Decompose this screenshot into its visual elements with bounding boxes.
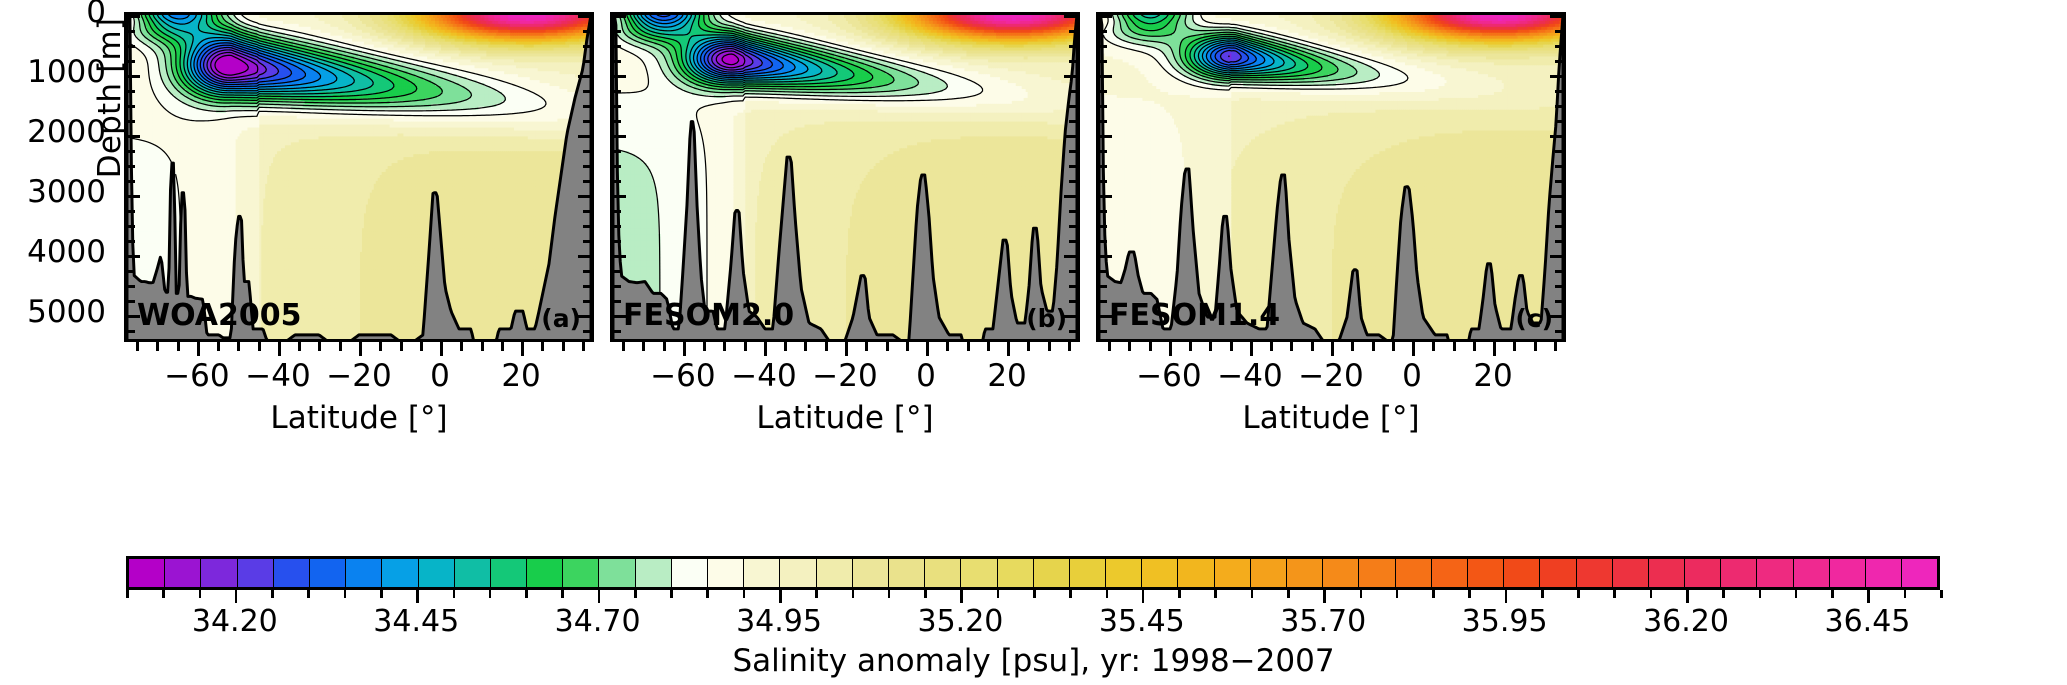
y-axis-tick (613, 285, 621, 288)
x-axis-tick (481, 342, 484, 351)
panel-field-b (613, 15, 1077, 339)
x-axis-tick (642, 342, 645, 351)
x-axis-tick (1027, 342, 1030, 351)
panel-field-c (1099, 15, 1563, 339)
x-axis-tick (1189, 342, 1192, 351)
colorbar-tick (271, 590, 274, 598)
x-axis-tick (825, 342, 828, 351)
y-axis-tick (1555, 180, 1563, 183)
y-axis-tick (583, 120, 591, 123)
x-axis-tick (1493, 342, 1496, 356)
y-axis-tick (1550, 255, 1563, 258)
x-tick-label: −40 (1217, 358, 1282, 394)
colorbar-segment (238, 559, 274, 587)
y-axis-tick (127, 15, 140, 18)
y-axis-tick (1099, 180, 1107, 183)
colorbar-segment (455, 559, 491, 587)
colorbar-segment (708, 559, 744, 587)
colorbar-segment (1323, 559, 1359, 587)
colorbar-label: Salinity anomaly [psu], yr: 1998−2007 (0, 643, 2067, 679)
colorbar-tick-label: 34.20 (192, 604, 278, 639)
colorbar-segment (744, 559, 780, 587)
x-axis-tick (723, 342, 726, 351)
y-axis-tick (1555, 150, 1563, 153)
colorbar-tick-labels: 34.2034.4534.7034.9535.2035.4535.7035.95… (126, 604, 1940, 642)
y-axis-tick (1550, 15, 1563, 18)
colorbar-tick (1904, 590, 1907, 598)
y-tick-label: 0 (86, 0, 106, 30)
x-axis-tick (906, 342, 909, 351)
colorbar-segment (1830, 559, 1866, 587)
colorbar-tick (1613, 590, 1616, 598)
salinity-field-a (127, 15, 591, 341)
panel-woa2005[interactable]: WOA2005 (a) (124, 12, 594, 342)
y-axis-tick (613, 135, 626, 138)
y-axis-tick (1064, 255, 1077, 258)
y-axis-tick (613, 165, 621, 168)
x-tick-label: 0 (1402, 358, 1422, 394)
colorbar-segment (1468, 559, 1504, 587)
colorbar-segment (310, 559, 346, 587)
colorbar-segment (672, 559, 708, 587)
colorbar-tick (1323, 590, 1326, 603)
y-axis-tick (1555, 60, 1563, 63)
y-axis-tick (1069, 285, 1077, 288)
colorbar-segment (599, 559, 635, 587)
y-axis-tick (1099, 75, 1112, 78)
colorbar-tick (1360, 590, 1363, 598)
colorbar-tick (888, 590, 891, 598)
x-tick-label: −20 (326, 358, 391, 394)
y-axis-tick (127, 195, 140, 198)
y-axis-tick (583, 30, 591, 33)
x-axis-tick (1048, 342, 1051, 351)
x-axis-tick (987, 342, 990, 351)
panel-field-a (127, 15, 591, 339)
x-axis-tick (136, 342, 139, 351)
y-axis-tick (613, 150, 621, 153)
y-axis-tick (613, 75, 626, 78)
y-axis-tick (1555, 330, 1563, 333)
colorbar-segment (1359, 559, 1395, 587)
colorbar-ticks (126, 590, 1940, 604)
colorbar-tick (199, 590, 202, 598)
y-axis-tick (127, 75, 140, 78)
y-axis-tick (1555, 45, 1563, 48)
y-axis-tick (1555, 270, 1563, 273)
x-axis-tick (845, 342, 848, 356)
y-axis-tick (583, 60, 591, 63)
y-tick-label: 3000 (27, 174, 106, 210)
y-axis-tick (583, 105, 591, 108)
colorbar-segment (1396, 559, 1432, 587)
y-axis-tick (613, 255, 626, 258)
y-axis-tick (127, 270, 135, 273)
panel-tag-c: (c) (1515, 304, 1553, 333)
y-axis-tick (613, 225, 621, 228)
colorbar-tick (598, 590, 601, 603)
y-axis-tick (583, 330, 591, 333)
y-axis-tick (1069, 210, 1077, 213)
colorbar-segment (1251, 559, 1287, 587)
x-axis-tick (339, 342, 342, 351)
y-axis-tick (613, 210, 621, 213)
y-axis-tick (1550, 135, 1563, 138)
x-axis-tick (440, 342, 443, 356)
y-axis-tick (127, 150, 135, 153)
y-axis-tick (127, 90, 135, 93)
y-axis-tick (1555, 285, 1563, 288)
y-axis-tick (1099, 255, 1112, 258)
y-axis-tick (127, 210, 135, 213)
colorbar-segment (889, 559, 925, 587)
colorbar-segment (527, 559, 563, 587)
y-axis-tick (613, 45, 621, 48)
colorbar-segment (925, 559, 961, 587)
colorbar-tick (1650, 590, 1653, 598)
colorbar-tick (852, 590, 855, 598)
y-axis-tick (1099, 135, 1112, 138)
x-axis-tick (1270, 342, 1273, 351)
x-axis-tick (663, 342, 666, 351)
y-axis-tick (1555, 300, 1563, 303)
colorbar-segment (636, 559, 672, 587)
colorbar-segment (491, 559, 527, 587)
x-axis-tick (1108, 342, 1111, 351)
y-axis-tick (1099, 45, 1107, 48)
y-axis-tick (1069, 225, 1077, 228)
colorbar-tick (1214, 590, 1217, 598)
y-axis-tick (127, 105, 135, 108)
y-axis-tick (583, 225, 591, 228)
x-axis-tick (764, 342, 767, 356)
colorbar-tick (1142, 590, 1145, 603)
y-axis-tick (1069, 60, 1077, 63)
y-axis-tick (1064, 75, 1077, 78)
colorbar-segment (1215, 559, 1251, 587)
y-axis-tick (127, 300, 135, 303)
x-axis-tick (622, 342, 625, 351)
x-axis-tick (1068, 342, 1071, 351)
y-axis-tick (127, 240, 135, 243)
x-axis-tick (521, 342, 524, 356)
colorbar-segment (1902, 559, 1937, 587)
y-axis-tick (578, 75, 591, 78)
x-axis-tick (1432, 342, 1435, 351)
x-axis-tick (1453, 342, 1456, 351)
colorbar-tick (162, 590, 165, 598)
x-axis-tick (1412, 342, 1415, 356)
y-axis-tick (127, 60, 135, 63)
y-axis-tick (583, 165, 591, 168)
x-axis-tick (501, 342, 504, 351)
colorbar-segment (1649, 559, 1685, 587)
colorbar-tick (1251, 590, 1254, 598)
x-axis-tick (379, 342, 382, 351)
x-tick-label: −20 (812, 358, 877, 394)
colorbar-tick-label: 35.70 (1280, 604, 1366, 639)
panel-fesom20[interactable]: FESOM2.0 (b) (610, 12, 1080, 342)
colorbar-tick (126, 590, 129, 598)
y-axis-tick (1099, 225, 1107, 228)
figure-canvas: Depth [m] 010002000300040005000 WOA2005 … (0, 0, 2067, 685)
colorbar-segment (1685, 559, 1721, 587)
y-axis-tick (1555, 105, 1563, 108)
colorbar-segment (1504, 559, 1540, 587)
y-axis-tick (1099, 150, 1107, 153)
y-axis-tick (578, 15, 591, 18)
x-axis-tick (926, 342, 929, 356)
x-axis-tick (1290, 342, 1293, 351)
y-axis-tick (1555, 240, 1563, 243)
colorbar-tick (815, 590, 818, 598)
y-axis-tick (1064, 135, 1077, 138)
colorbar-tick (1468, 590, 1471, 598)
panel-title-c: FESOM1.4 (1109, 298, 1280, 333)
x-tick-label: −20 (1298, 358, 1363, 394)
x-axis-tick-labels: −60−40−20020 (610, 358, 1080, 400)
y-tick-label: 4000 (27, 234, 106, 270)
x-tick-label: 20 (1473, 358, 1512, 394)
x-axis-tick (1473, 342, 1476, 351)
y-axis-tick (1069, 120, 1077, 123)
colorbar-tick (1795, 590, 1798, 598)
x-axis-tick (865, 342, 868, 351)
y-axis-tick (1099, 105, 1107, 108)
colorbar-segment (165, 559, 201, 587)
colorbar-tick (634, 590, 637, 598)
y-axis-tick (1069, 150, 1077, 153)
y-axis-tick (1099, 165, 1107, 168)
colorbar-segment (201, 559, 237, 587)
y-axis-tick (127, 165, 135, 168)
colorbar-segment (1577, 559, 1613, 587)
colorbar-tick-label: 35.95 (1462, 604, 1548, 639)
y-axis-tick (127, 45, 135, 48)
colorbar-segment (1287, 559, 1323, 587)
y-axis-tick (1555, 165, 1563, 168)
x-axis-tick (946, 342, 949, 351)
colorbar-segment (1178, 559, 1214, 587)
salinity-field-b (613, 15, 1077, 341)
colorbar-tick (743, 590, 746, 598)
colorbar-tick (1178, 590, 1181, 598)
panel-title-b: FESOM2.0 (623, 298, 794, 333)
y-axis-tick (583, 285, 591, 288)
colorbar-segment (1106, 559, 1142, 587)
y-axis-tick (1099, 270, 1107, 273)
colorbar-tick (561, 590, 564, 598)
y-axis-tick (1555, 120, 1563, 123)
colorbar-tick-label: 36.45 (1824, 604, 1910, 639)
y-axis-tick (1555, 90, 1563, 93)
colorbar-tick (779, 590, 782, 603)
panel-title-a: WOA2005 (137, 298, 302, 333)
x-axis-label: Latitude [°] (1096, 400, 1566, 436)
colorbar-segment (129, 559, 165, 587)
colorbar-tick-label: 34.95 (736, 604, 822, 639)
colorbar-tick (1106, 590, 1109, 598)
x-axis-tick (683, 342, 686, 356)
colorbar-tick (1722, 590, 1725, 598)
y-axis-tick (127, 330, 135, 333)
colorbar-segment (1757, 559, 1793, 587)
y-axis-tick (613, 90, 621, 93)
y-axis-tick (1069, 45, 1077, 48)
colorbar-tick-label: 34.70 (555, 604, 641, 639)
y-axis-tick (613, 330, 621, 333)
y-axis-tick (1099, 120, 1107, 123)
y-axis-tick (1099, 210, 1107, 213)
colorbar-segment (1432, 559, 1468, 587)
colorbar-segment (817, 559, 853, 587)
x-axis-tick (1230, 342, 1233, 351)
x-axis-tick (1513, 342, 1516, 351)
x-axis-tick (1534, 342, 1537, 351)
x-axis-tick (197, 342, 200, 356)
y-axis-tick (1064, 15, 1077, 18)
y-axis-tick (1069, 330, 1077, 333)
x-tick-label: 20 (987, 358, 1026, 394)
y-axis-tick (1069, 90, 1077, 93)
y-axis-tick (613, 270, 621, 273)
panel-fesom14[interactable]: FESOM1.4 (c) (1096, 12, 1566, 342)
colorbar-tick (670, 590, 673, 598)
x-axis-tick (784, 342, 787, 351)
y-axis-tick (613, 60, 621, 63)
y-axis-tick (583, 150, 591, 153)
colorbar-tick-label: 34.45 (373, 604, 459, 639)
y-axis-tick (1099, 240, 1107, 243)
x-axis-ticks (1096, 342, 1566, 358)
y-axis-tick (1099, 30, 1107, 33)
y-axis-tick-labels: 010002000300040005000 (0, 0, 118, 346)
colorbar-tick (997, 590, 1000, 598)
y-axis-tick (578, 135, 591, 138)
colorbar-tick (525, 590, 528, 598)
colorbar-tick (416, 590, 419, 603)
y-axis-tick (613, 30, 621, 33)
x-axis-tick-labels: −60−40−20020 (124, 358, 594, 400)
x-axis-tick (217, 342, 220, 351)
colorbar-tick (1831, 590, 1834, 598)
y-axis-tick (583, 180, 591, 183)
colorbar-tick (235, 590, 238, 603)
y-axis-tick (613, 195, 626, 198)
x-axis-tick (318, 342, 321, 351)
colorbar-tick (380, 590, 383, 598)
y-axis-tick (583, 270, 591, 273)
y-axis-tick (127, 180, 135, 183)
x-axis-tick (1351, 342, 1354, 351)
colorbar-tick (924, 590, 927, 598)
y-axis-tick (1069, 165, 1077, 168)
y-axis-tick (1069, 270, 1077, 273)
colorbar-tick-label: 35.20 (917, 604, 1003, 639)
x-tick-label: −60 (1136, 358, 1201, 394)
colorbar-tick-label: 35.45 (1099, 604, 1185, 639)
y-axis-tick (583, 45, 591, 48)
colorbar-segment (274, 559, 310, 587)
y-axis-tick (613, 15, 626, 18)
panel-tag-a: (a) (541, 304, 581, 333)
x-axis-tick (1392, 342, 1395, 351)
y-axis-tick (1069, 240, 1077, 243)
x-axis-tick (420, 342, 423, 351)
x-axis-tick (156, 342, 159, 351)
y-axis-tick (1099, 60, 1107, 63)
colorbar-tick (1940, 590, 1943, 598)
x-tick-label: 0 (916, 358, 936, 394)
y-axis-tick (127, 285, 135, 288)
colorbar-segment (1142, 559, 1178, 587)
y-axis-tick (583, 300, 591, 303)
x-axis-tick (237, 342, 240, 351)
colorbar-tick-label: 36.20 (1643, 604, 1729, 639)
x-tick-label: −40 (731, 358, 796, 394)
x-axis-tick (1149, 342, 1152, 351)
y-axis-tick (1099, 15, 1112, 18)
x-axis-tick (258, 342, 261, 351)
colorbar-tick (489, 590, 492, 598)
x-axis-tick (703, 342, 706, 351)
x-tick-label: 0 (430, 358, 450, 394)
y-axis-tick (127, 225, 135, 228)
salinity-field-c (1099, 15, 1563, 341)
colorbar-tick (1577, 590, 1580, 598)
x-axis-tick (460, 342, 463, 351)
y-axis-tick (578, 255, 591, 258)
x-axis-tick (298, 342, 301, 351)
x-axis-tick (886, 342, 889, 351)
colorbar[interactable] (126, 556, 1940, 590)
x-axis-tick (278, 342, 281, 356)
y-axis-tick (583, 240, 591, 243)
colorbar-segment (346, 559, 382, 587)
y-axis-tick (613, 180, 621, 183)
x-axis-ticks (124, 342, 594, 358)
colorbar-tick (1867, 590, 1870, 603)
y-axis-tick (127, 255, 140, 258)
y-axis-tick (1550, 195, 1563, 198)
colorbar-segment (998, 559, 1034, 587)
x-axis-tick-labels: −60−40−20020 (1096, 358, 1566, 400)
colorbar-segment (1866, 559, 1902, 587)
y-axis-tick (1099, 195, 1112, 198)
x-axis-label: Latitude [°] (124, 400, 594, 436)
colorbar-segment (1794, 559, 1830, 587)
panel-tag-b: (b) (1026, 304, 1067, 333)
y-axis-tick (1099, 285, 1107, 288)
colorbar-segment (1034, 559, 1070, 587)
y-axis-tick (583, 210, 591, 213)
colorbar-segment (1613, 559, 1649, 587)
colorbar-segment (961, 559, 997, 587)
y-axis-tick (127, 135, 140, 138)
x-axis-tick (1209, 342, 1212, 351)
y-tick-label: 1000 (27, 54, 106, 90)
y-axis-tick (613, 105, 621, 108)
x-axis-tick (1372, 342, 1375, 351)
x-tick-label: −60 (164, 358, 229, 394)
y-axis-tick (1069, 30, 1077, 33)
y-axis-tick (613, 240, 621, 243)
colorbar-tick (960, 590, 963, 603)
y-axis-tick (1555, 30, 1563, 33)
y-axis-tick (1555, 225, 1563, 228)
x-axis-tick (1128, 342, 1131, 351)
colorbar-tick (1396, 590, 1399, 598)
